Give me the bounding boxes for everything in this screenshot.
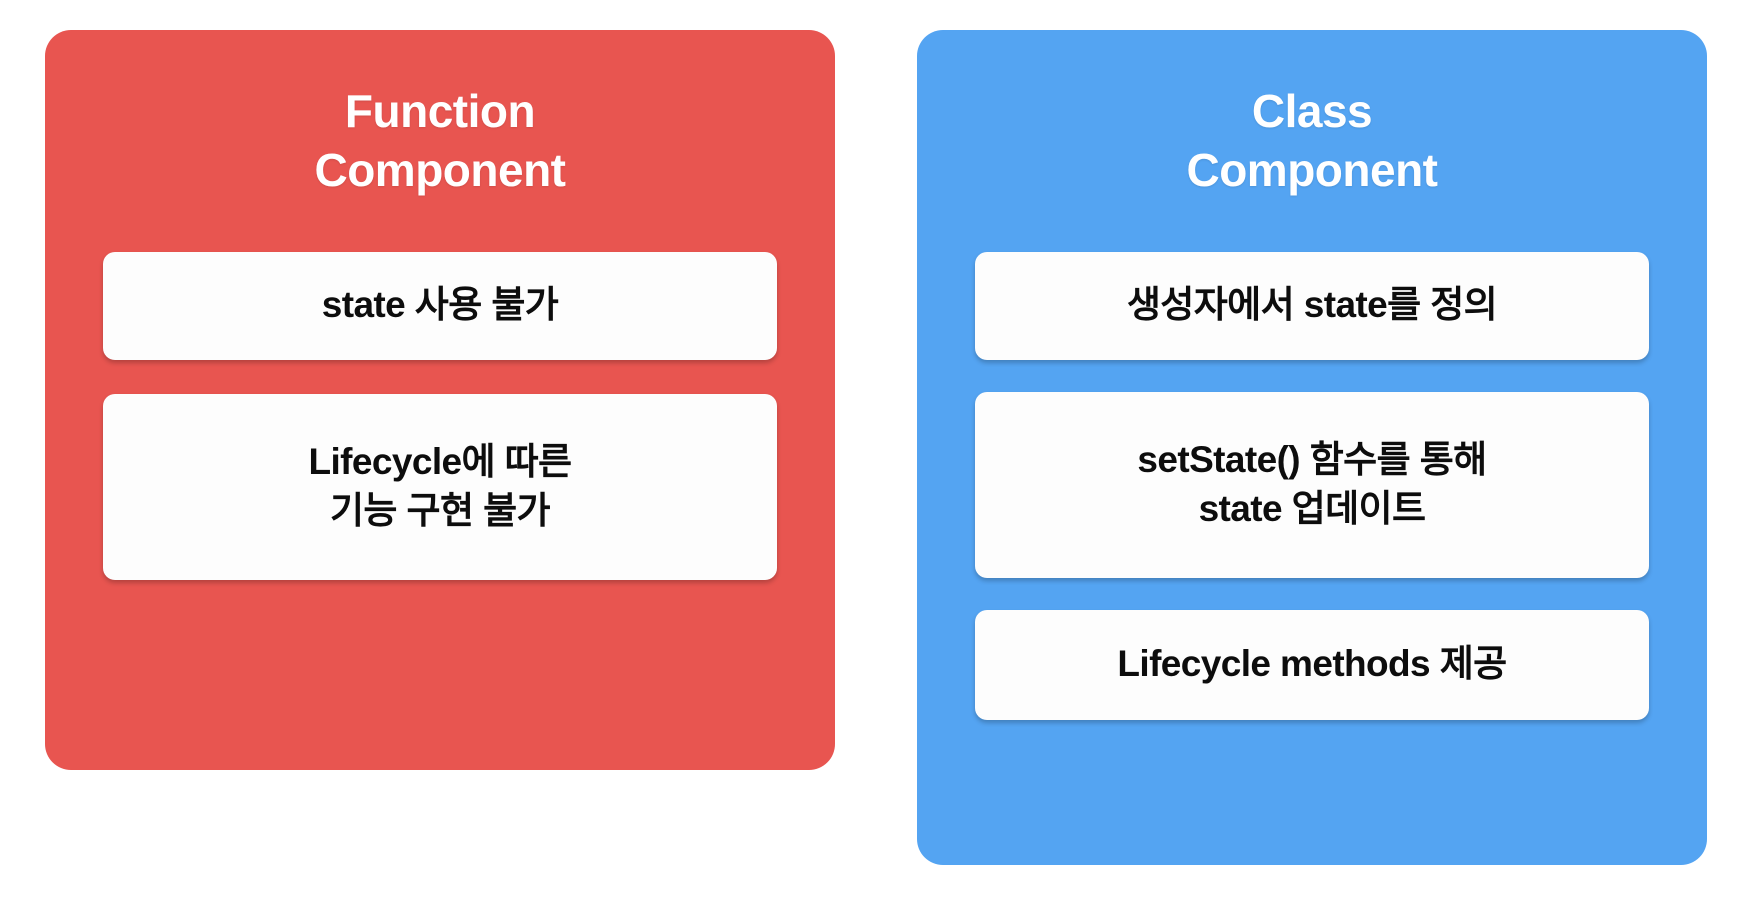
comparison-diagram: Function Component state 사용 불가 Lifecycle… xyxy=(0,0,1748,900)
card-setstate-update: setState() 함수를 통해 state 업데이트 xyxy=(975,392,1649,578)
card-lifecycle-unavailable: Lifecycle에 따른 기능 구현 불가 xyxy=(103,394,777,580)
card-state-in-constructor: 생성자에서 state를 정의 xyxy=(975,252,1649,360)
panel-class-component: Class Component 생성자에서 state를 정의 setState… xyxy=(917,30,1707,865)
card-label: 생성자에서 state를 정의 xyxy=(1127,281,1497,330)
panel-title-function-component: Function Component xyxy=(103,82,777,200)
panel-function-component: Function Component state 사용 불가 Lifecycle… xyxy=(45,30,835,770)
card-label: Lifecycle methods 제공 xyxy=(1117,640,1506,689)
card-label: setState() 함수를 통해 state 업데이트 xyxy=(1137,436,1486,534)
card-label: Lifecycle에 따른 기능 구현 불가 xyxy=(309,438,572,536)
card-state-unavailable: state 사용 불가 xyxy=(103,252,777,360)
panel-title-class-component: Class Component xyxy=(975,82,1649,200)
card-label: state 사용 불가 xyxy=(322,281,559,330)
card-lifecycle-methods: Lifecycle methods 제공 xyxy=(975,610,1649,720)
